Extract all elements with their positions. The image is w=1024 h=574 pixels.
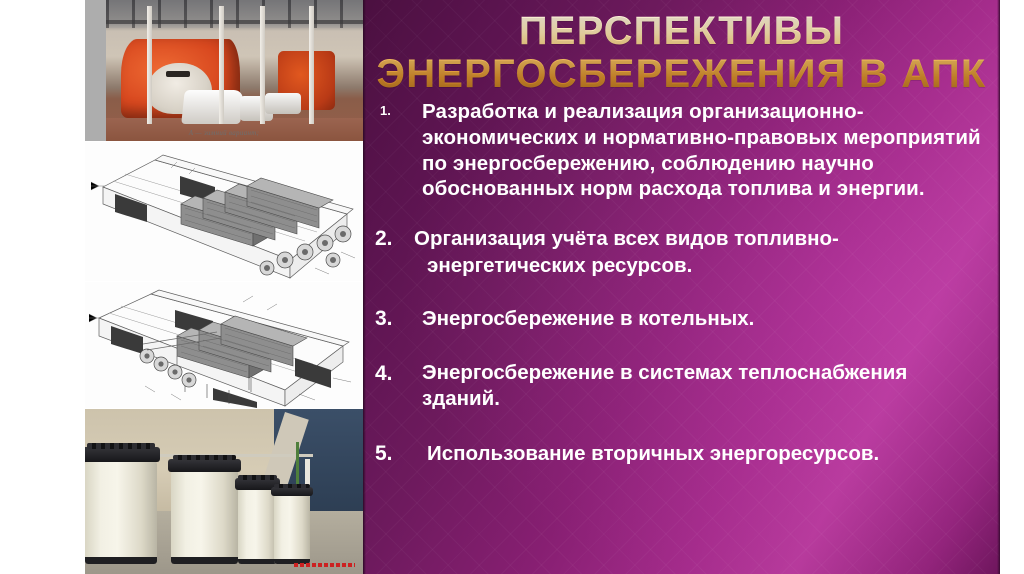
ceiling-rail [106, 20, 363, 24]
right-margin [1000, 0, 1024, 574]
slide-title-line-2: ЭНЕРГОСБЕРЕЖЕНИЯ В АПК [363, 53, 1000, 96]
slide-title: ПЕРСПЕКТИВЫ ЭНЕРГОСБЕРЕЖЕНИЯ В АПК [363, 10, 1000, 96]
boiler-house-photo [85, 0, 363, 141]
water-treatment-tanks-photo [85, 409, 363, 574]
support-column [147, 6, 152, 124]
tank-valve-head [271, 487, 313, 497]
list-item-text: Использование вторичных энергоресурсов. [427, 440, 984, 467]
photo-watermark [294, 563, 355, 567]
list-item: 1. Разработка и реализация организационн… [363, 99, 1000, 202]
ceiling-beams [106, 0, 363, 28]
slide: А — зимний вариант; [0, 0, 1024, 574]
list-item-number: 1. [371, 99, 422, 123]
list-item-number: 5. [371, 440, 427, 467]
drawing-svg-2 [85, 282, 363, 408]
list-item-number: 4. [371, 360, 422, 387]
boiler-burner-unit-rear [265, 93, 301, 114]
measures-list: 1. Разработка и реализация организационн… [363, 99, 1000, 467]
photo-gray-band [85, 0, 106, 141]
drawing-svg-1 [85, 142, 363, 281]
list-item-text-line-1: Организация учёта всех видов топливно- [414, 227, 839, 250]
boiler-nameplate [166, 71, 190, 77]
list-item-text: Энергосбережение в котельных. [422, 305, 984, 332]
boiler-scene [106, 0, 363, 141]
image-column: А — зимний вариант; [0, 0, 363, 574]
list-item-text: Энергосбережение в системах теплоснабжен… [422, 360, 984, 412]
list-item-number: 3. [371, 305, 422, 332]
list-item: 3. Энергосбережение в котельных. [363, 305, 1000, 332]
content-panel: ПЕРСПЕКТИВЫ ЭНЕРГОСБЕРЕЖЕНИЯ В АПК 1. Ра… [363, 0, 1000, 574]
list-item-text-line-2: энергетических ресурсов. [415, 252, 984, 279]
boiler-burner-unit [181, 90, 244, 124]
livestock-building-drawing-1 [85, 142, 363, 281]
support-column [260, 6, 265, 124]
drawing-caption: А — зимний вариант; [85, 129, 363, 137]
filter-tank [274, 492, 310, 565]
slide-title-line-1: ПЕРСПЕКТИВЫ [363, 10, 1000, 53]
list-item-text: Разработка и реализация организационно-э… [422, 99, 984, 202]
support-column [219, 6, 224, 124]
tank-valve-head [85, 447, 160, 462]
list-item-number: 2. [371, 225, 415, 252]
list-item: 2. Организация учёта всех видов топливно… [363, 225, 1000, 279]
list-item: 5. Использование вторичных энергоресурсо… [363, 440, 1000, 467]
list-item: 4. Энергосбережение в системах теплоснаб… [363, 360, 1000, 412]
support-column [309, 6, 314, 124]
list-item-text: Организация учёта всех видов топливно- э… [415, 225, 984, 279]
tank-valve-head [168, 459, 240, 472]
filter-tank [171, 468, 238, 564]
filter-tank [238, 485, 277, 564]
filter-tank [85, 459, 157, 565]
livestock-building-drawing-2 [85, 282, 363, 408]
